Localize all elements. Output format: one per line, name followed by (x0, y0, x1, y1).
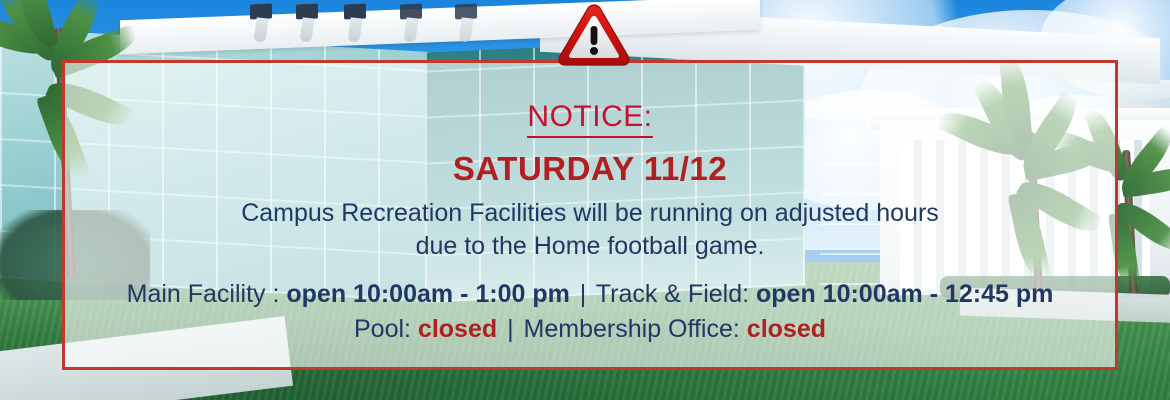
warning-triangle-icon (556, 2, 632, 68)
notice-panel (62, 60, 1118, 370)
roof-floodlights (250, 4, 510, 44)
